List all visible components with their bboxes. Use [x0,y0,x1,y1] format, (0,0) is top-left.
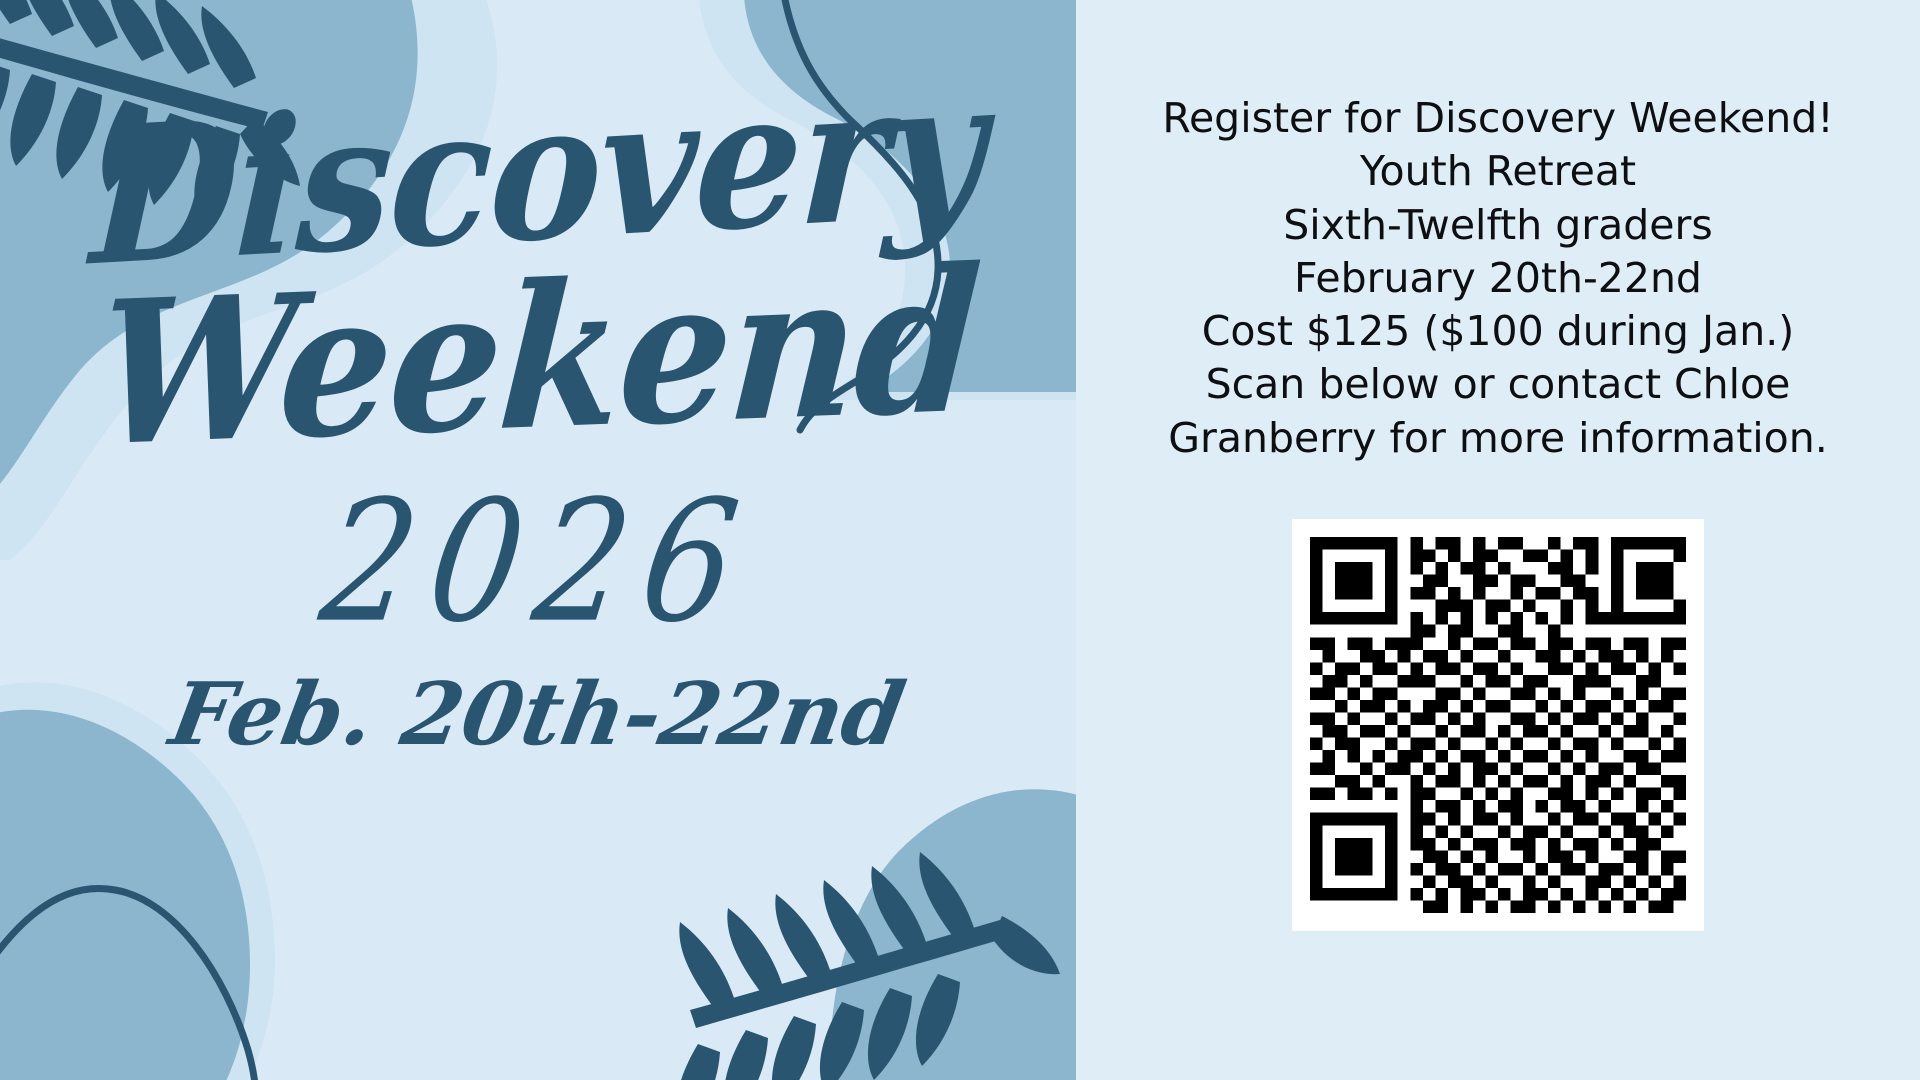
title-block: Discovery Weekend 2026 Feb. 20th-22nd [0,0,1076,1080]
title-dates: Feb. 20th-22nd [165,672,911,758]
info-line: Sixth-Twelfth graders [1098,199,1898,252]
info-line: Granberry for more information. [1098,412,1898,465]
info-line: Cost $125 ($100 during Jan.) [1098,305,1898,358]
title-line-weekend: Weekend [93,242,984,473]
right-panel: Register for Discovery Weekend! Youth Re… [1076,0,1920,1080]
left-panel: Discovery Weekend 2026 Feb. 20th-22nd [0,0,1076,1080]
qr-code-image[interactable] [1310,537,1686,913]
qr-code-panel[interactable] [1292,519,1704,931]
title-year: 2026 [314,479,763,647]
info-text-block: Register for Discovery Weekend! Youth Re… [1098,92,1898,465]
info-line: Register for Discovery Weekend! [1098,92,1898,145]
info-line: February 20th-22nd [1098,252,1898,305]
info-line: Youth Retreat [1098,145,1898,198]
poster-canvas: Discovery Weekend 2026 Feb. 20th-22nd Re… [0,0,1920,1080]
info-line: Scan below or contact Chloe [1098,358,1898,411]
